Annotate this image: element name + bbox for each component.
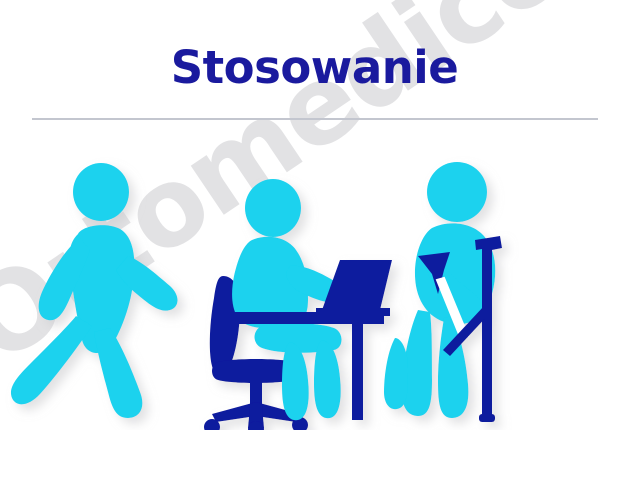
illustration-area	[0, 130, 629, 430]
title-block: Stosowanie	[0, 44, 629, 91]
desk-leg	[352, 322, 363, 420]
figure-person-with-crutches	[384, 162, 502, 422]
pictogram-illustration	[0, 130, 629, 430]
crutch-shaft-lower	[482, 335, 492, 420]
slide-canvas: Ortomedico.pl Stosowanie	[0, 0, 629, 493]
figure-walking-person	[11, 163, 178, 418]
figure-desk-worker	[204, 179, 392, 430]
title-divider	[32, 118, 598, 120]
page-title: Stosowanie	[171, 44, 458, 91]
crutch-tip	[479, 414, 495, 422]
crutch-person-foot-rear	[384, 338, 408, 409]
crutch-person-head	[427, 162, 487, 222]
laptop-screen	[322, 260, 392, 310]
laptop-keyboard	[316, 308, 390, 316]
walking-person-leg-front	[94, 328, 142, 418]
desk-worker-shin-back	[282, 342, 309, 420]
desk-worker-head	[245, 179, 301, 237]
walking-person-head	[73, 163, 129, 221]
walking-person-leg-rear	[11, 316, 92, 404]
desk-worker-shin-front	[314, 340, 341, 418]
